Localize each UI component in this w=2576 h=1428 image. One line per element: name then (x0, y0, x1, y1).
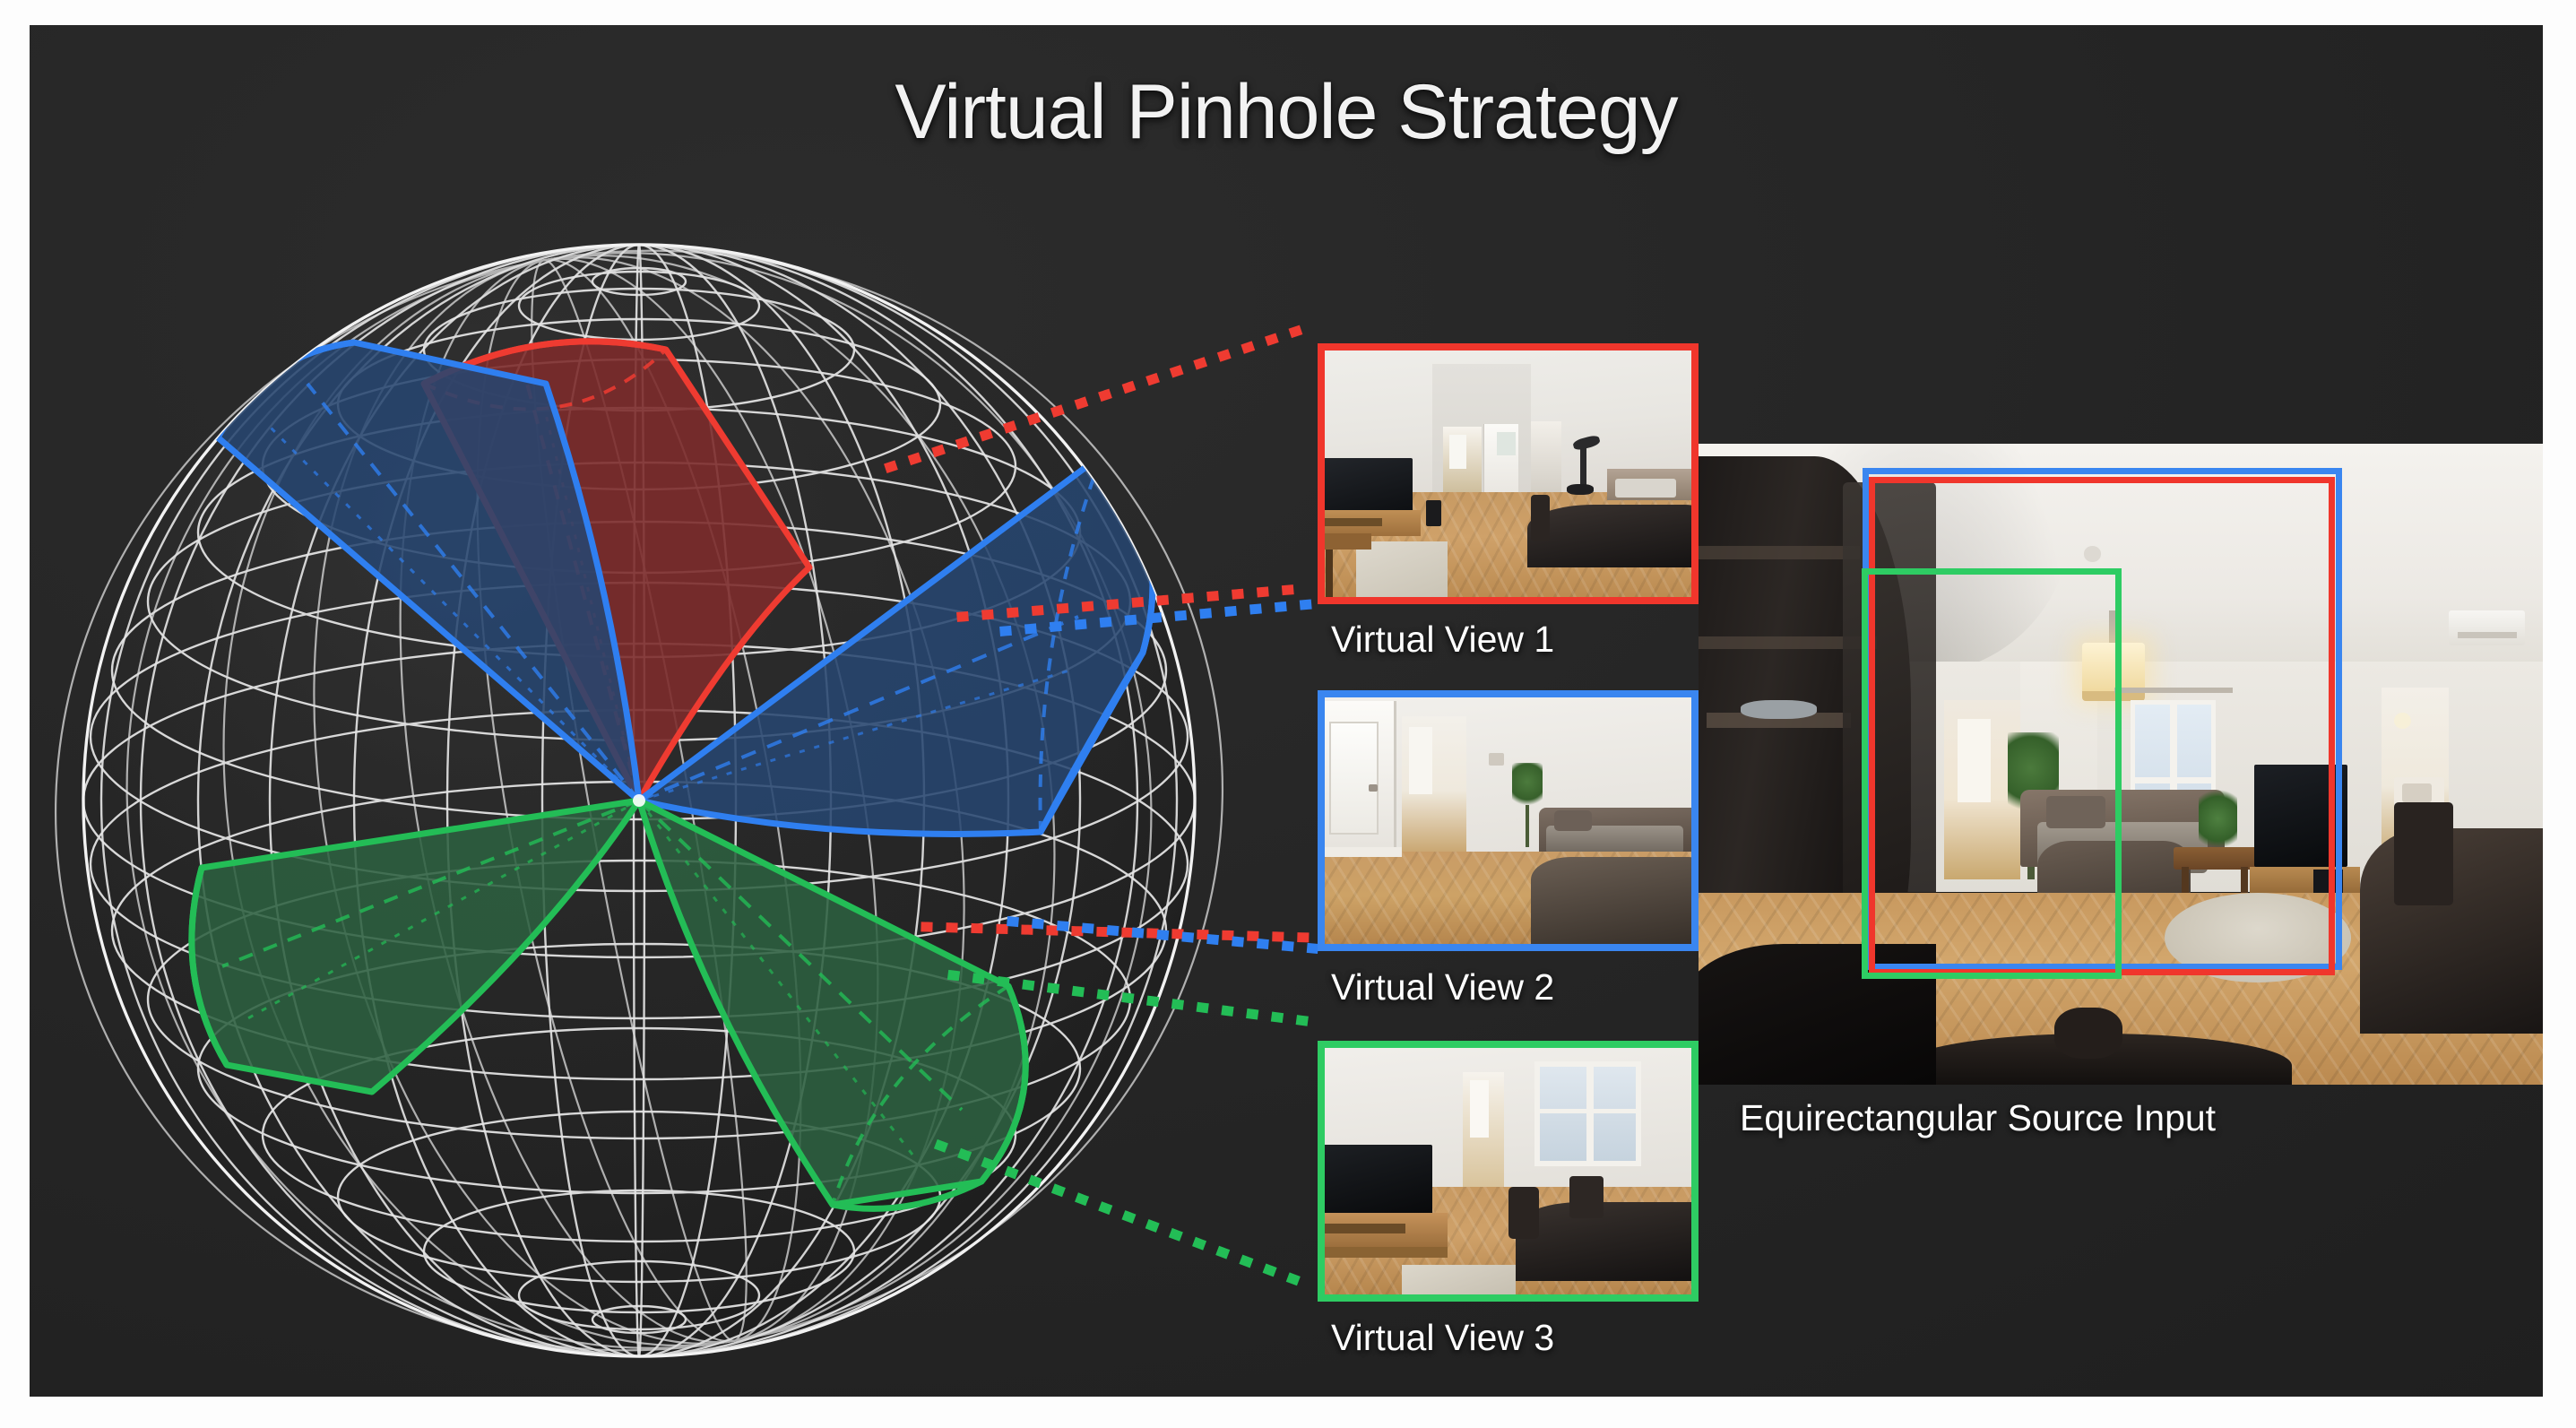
panorama-caption: Equirectangular Source Input (1740, 1097, 2216, 1139)
pinhole-origin-dot (633, 794, 645, 807)
slide-panel: Virtual Pinhole Strategy (30, 25, 2543, 1397)
sphere-diagram (39, 115, 1231, 1388)
virtual-view-3-thumbnail[interactable] (1318, 1041, 1699, 1302)
equirectangular-panorama[interactable] (1699, 444, 2543, 1085)
virtual-view-2-caption: Virtual View 2 (1331, 966, 1554, 1008)
sphere-svg (39, 115, 1231, 1388)
virtual-view-1-caption: Virtual View 1 (1331, 619, 1554, 661)
slide-canvas: Virtual Pinhole Strategy (0, 0, 2576, 1428)
virtual-view-3-caption: Virtual View 3 (1331, 1317, 1554, 1359)
view-1-scene (1318, 343, 1699, 604)
virtual-view-1-thumbnail[interactable] (1318, 343, 1699, 604)
view-3-scene (1318, 1041, 1699, 1302)
pano-rect-green (1862, 568, 2122, 979)
view-2-scene (1318, 690, 1699, 951)
virtual-view-2-thumbnail[interactable] (1318, 690, 1699, 951)
